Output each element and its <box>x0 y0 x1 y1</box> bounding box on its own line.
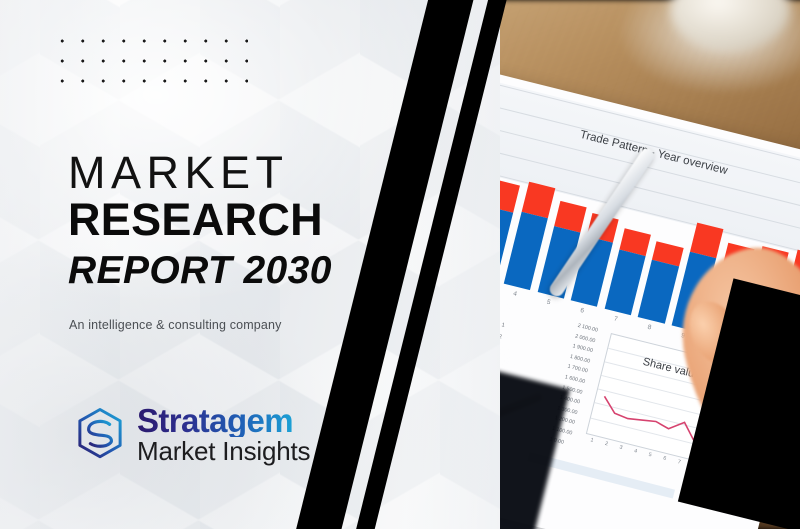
axis-tick: 1 700.00 <box>567 364 588 375</box>
axis-tick: 5 <box>535 296 563 309</box>
axis-tick: 2 000.00 <box>574 333 595 344</box>
axis-tick: 4 <box>628 447 644 456</box>
axis-tick: 3 <box>613 443 629 452</box>
axis-tick: 7 <box>602 313 630 326</box>
cover-tagline: An intelligence & consulting company <box>69 318 281 332</box>
axis-tick: 1 600.00 <box>564 374 585 385</box>
axis-tick: 2 <box>598 439 614 448</box>
logo-wordmark-top: Stratagem <box>137 404 310 437</box>
stratagem-hexagon-s-logo-icon <box>72 406 128 462</box>
axis-tick: 1 900.00 <box>572 343 593 354</box>
axis-tick: 5 <box>642 450 658 459</box>
dot-grid-decoration <box>48 25 248 93</box>
axis-tick: 1 800.00 <box>569 354 590 365</box>
axis-tick: 8 <box>635 321 663 334</box>
logo-wordmark: Stratagem Market Insights <box>137 404 310 464</box>
axis-tick: 7 <box>671 458 687 467</box>
report-cover: MARKET RESEARCH REPORT 2030 An intellige… <box>0 0 800 529</box>
cover-photograph: Trade Pattern - Year overview <box>500 0 800 529</box>
axis-tick: 2 100.00 <box>577 323 598 334</box>
axis-tick: 6 <box>657 454 673 463</box>
company-logo: Stratagem Market Insights <box>72 404 310 464</box>
axis-tick: 6 <box>568 304 596 317</box>
axis-tick: 1 <box>584 436 600 445</box>
logo-wordmark-bottom: Market Insights <box>137 438 310 464</box>
